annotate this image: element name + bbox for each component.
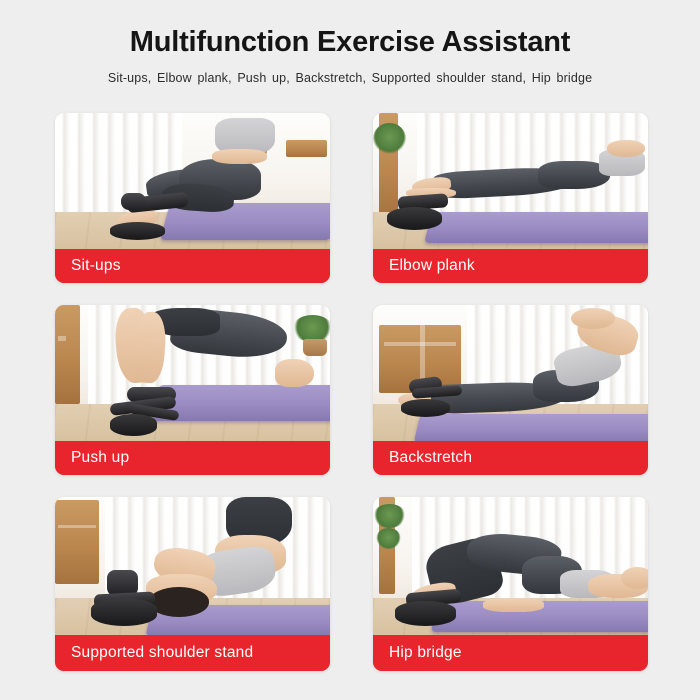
label-bar-hip-bridge: Hip bridge: [373, 635, 648, 671]
tile-label: Supported shoulder stand: [55, 644, 253, 662]
tile-label: Push up: [55, 449, 129, 467]
header: Multifunction Exercise Assistant Sit-ups…: [0, 0, 700, 85]
tile-label: Sit-ups: [55, 257, 121, 275]
product-infographic: Multifunction Exercise Assistant Sit-ups…: [0, 0, 700, 700]
exercise-tile-hip-bridge[interactable]: Hip bridge: [373, 497, 648, 671]
exercise-tile-supported-shoulder-stand[interactable]: Supported shoulder stand: [55, 497, 330, 671]
tile-label: Hip bridge: [373, 644, 462, 662]
label-bar-sit-ups: Sit-ups: [55, 249, 330, 283]
tile-label: Elbow plank: [373, 257, 475, 275]
exercise-list-subtitle: Sit-ups, Elbow plank, Push up, Backstret…: [0, 59, 700, 85]
exercise-grid: Sit-ups Elbow plank: [55, 113, 648, 678]
exercise-tile-push-up[interactable]: Push up: [55, 305, 330, 475]
label-bar-backstretch: Backstretch: [373, 441, 648, 475]
exercise-tile-sit-ups[interactable]: Sit-ups: [55, 113, 330, 283]
page-title: Multifunction Exercise Assistant: [0, 0, 700, 59]
exercise-tile-backstretch[interactable]: Backstretch: [373, 305, 648, 475]
label-bar-elbow-plank: Elbow plank: [373, 249, 648, 283]
label-bar-supported-shoulder-stand: Supported shoulder stand: [55, 635, 330, 671]
label-bar-push-up: Push up: [55, 441, 330, 475]
exercise-tile-elbow-plank[interactable]: Elbow plank: [373, 113, 648, 283]
tile-label: Backstretch: [373, 449, 472, 467]
